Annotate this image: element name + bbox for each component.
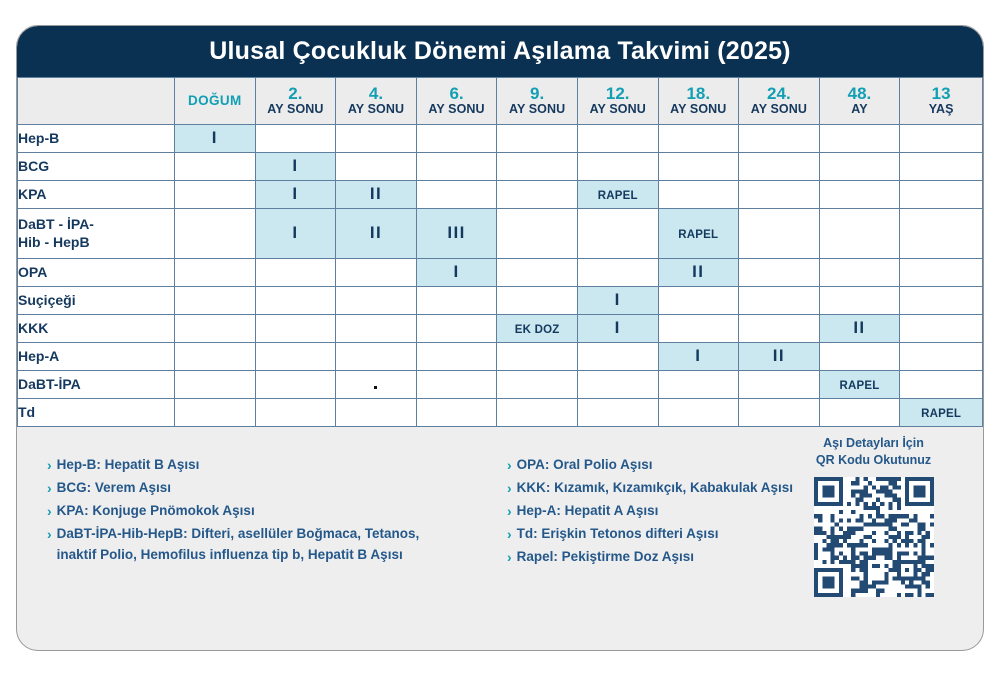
dose-cell-m18: I — [658, 343, 739, 371]
vaccine-name-cell: Hep-A — [18, 343, 175, 371]
dose-cell-m9 — [497, 209, 578, 259]
vaccine-name-cell: BCG — [18, 153, 175, 181]
dose-cell-m6: I — [416, 259, 497, 287]
page-title: Ulusal Çocukluk Dönemi Aşılama Takvimi (… — [209, 37, 790, 66]
dose-cell-m4: II — [336, 209, 417, 259]
dose-marker: I — [212, 128, 218, 147]
dose-marker: III — [447, 223, 465, 242]
dose-cell-m12 — [577, 125, 658, 153]
legend-item: ›KPA: Konjuge Pnömokok Aşısı — [47, 501, 497, 522]
dose-cell-m6 — [416, 371, 497, 399]
dose-cell-m48: II — [819, 315, 900, 343]
chevron-right-icon: › — [507, 455, 512, 476]
dose-cell-m9 — [497, 287, 578, 315]
dose-cell-m18: II — [658, 259, 739, 287]
dose-cell-m2: I — [255, 153, 336, 181]
vaccination-schedule-table: DOĞUM2.AY SONU4.AY SONU6.AY SONU9.AY SON… — [17, 77, 983, 427]
dose-cell-m4: II — [336, 181, 417, 209]
dose-cell-m24 — [739, 287, 820, 315]
legend-column-left: ›Hep-B: Hepatit B Aşısı›BCG: Verem Aşısı… — [47, 455, 497, 567]
table-row: SuçiçeğiI — [18, 287, 983, 315]
column-header-dogum: DOĞUM — [175, 78, 256, 125]
table-row: TdRAPEL — [18, 399, 983, 427]
dose-marker: I — [292, 184, 298, 203]
dose-cell-m18 — [658, 371, 739, 399]
legend-footer: ›Hep-B: Hepatit B Aşısı›BCG: Verem Aşısı… — [17, 427, 983, 627]
legend-item: ›Rapel: Pekiştirme Doz Aşısı — [507, 547, 817, 568]
dose-cell-y13 — [900, 181, 983, 209]
dose-cell-m2 — [255, 287, 336, 315]
legend-item: ›OPA: Oral Polio Aşısı — [507, 455, 817, 476]
legend-item-text: Rapel: Pekiştirme Doz Aşısı — [517, 547, 817, 568]
dose-cell-dogum — [175, 181, 256, 209]
column-header-unit: AY SONU — [659, 103, 739, 117]
dose-cell-m4 — [336, 153, 417, 181]
dose-cell-y13 — [900, 371, 983, 399]
dose-cell-m48 — [819, 153, 900, 181]
table-row: KPAIIIRAPEL — [18, 181, 983, 209]
legend-item: ›Td: Erişkin Tetonos difteri Aşısı — [507, 524, 817, 545]
column-header-unit: AY SONU — [497, 103, 577, 117]
column-header-unit: AY SONU — [417, 103, 497, 117]
dose-marker: II — [692, 262, 704, 281]
column-header-unit: AY SONU — [578, 103, 658, 117]
column-header-m18: 18.AY SONU — [658, 78, 739, 125]
dose-cell-m12 — [577, 259, 658, 287]
dose-cell-y13 — [900, 209, 983, 259]
column-header-number: 2. — [256, 85, 336, 103]
dose-cell-m18 — [658, 153, 739, 181]
column-header-number: 18. — [659, 85, 739, 103]
dose-cell-m9 — [497, 399, 578, 427]
dose-cell-m4 — [336, 259, 417, 287]
dose-cell-m48 — [819, 125, 900, 153]
stray-dot-mark — [374, 386, 377, 389]
chevron-right-icon: › — [47, 478, 52, 499]
dose-marker: EK DOZ — [515, 324, 560, 336]
dose-cell-m9: EK DOZ — [497, 315, 578, 343]
card-title-bar: Ulusal Çocukluk Dönemi Aşılama Takvimi (… — [17, 26, 983, 77]
chevron-right-icon: › — [47, 501, 52, 522]
dose-cell-m48 — [819, 287, 900, 315]
table-header-row: DOĞUM2.AY SONU4.AY SONU6.AY SONU9.AY SON… — [18, 78, 983, 125]
screenshot-stage: Ulusal Çocukluk Dönemi Aşılama Takvimi (… — [0, 0, 1000, 674]
legend-item-text: DaBT-İPA-Hib-HepB: Difteri, asellüler Bo… — [57, 524, 497, 565]
dose-marker: I — [615, 290, 621, 309]
column-header-m9: 9.AY SONU — [497, 78, 578, 125]
dose-marker: I — [292, 223, 298, 242]
dose-cell-m4 — [336, 315, 417, 343]
dose-cell-m4 — [336, 343, 417, 371]
dose-cell-dogum — [175, 315, 256, 343]
dose-cell-m24 — [739, 125, 820, 153]
dose-cell-m24 — [739, 259, 820, 287]
table-row: OPAIII — [18, 259, 983, 287]
chevron-right-icon: › — [47, 455, 52, 476]
column-header-m48: 48.AY — [819, 78, 900, 125]
legend-item-text: Hep-A: Hepatit A Aşısı — [517, 501, 817, 522]
dose-marker: RAPEL — [598, 190, 638, 202]
legend-item: ›DaBT-İPA-Hib-HepB: Difteri, asellüler B… — [47, 524, 497, 565]
table-row: DaBT - İPA- Hib - HepBIIIIIIRAPEL — [18, 209, 983, 259]
dose-cell-m18 — [658, 181, 739, 209]
dose-cell-m48 — [819, 209, 900, 259]
legend-item: ›Hep-B: Hepatit B Aşısı — [47, 455, 497, 476]
legend-item-text: KKK: Kızamık, Kızamıkçık, Kabakulak Aşıs… — [517, 478, 817, 499]
dose-marker: I — [453, 262, 459, 281]
column-header-unit: YAŞ — [900, 103, 982, 117]
legend-column-right: ›OPA: Oral Polio Aşısı›KKK: Kızamık, Kız… — [507, 455, 817, 570]
dose-cell-m48: RAPEL — [819, 371, 900, 399]
dose-cell-dogum — [175, 209, 256, 259]
dose-marker: RAPEL — [678, 229, 718, 241]
dose-cell-m6 — [416, 315, 497, 343]
dose-cell-m18: RAPEL — [658, 209, 739, 259]
qr-code-icon — [814, 477, 934, 597]
dose-cell-m12: RAPEL — [577, 181, 658, 209]
dose-cell-m6: III — [416, 209, 497, 259]
dose-cell-m9 — [497, 125, 578, 153]
dose-cell-m6 — [416, 181, 497, 209]
dose-cell-dogum — [175, 371, 256, 399]
dose-cell-m6 — [416, 343, 497, 371]
dose-cell-m9 — [497, 181, 578, 209]
dose-cell-m4 — [336, 399, 417, 427]
dose-marker: I — [615, 318, 621, 337]
dose-cell-m48 — [819, 399, 900, 427]
dose-cell-m12 — [577, 153, 658, 181]
vaccine-name-cell: Td — [18, 399, 175, 427]
chevron-right-icon: › — [507, 524, 512, 545]
table-header: DOĞUM2.AY SONU4.AY SONU6.AY SONU9.AY SON… — [18, 78, 983, 125]
dose-cell-y13 — [900, 315, 983, 343]
dose-cell-dogum — [175, 343, 256, 371]
column-header-number: 48. — [820, 85, 900, 103]
dose-cell-m2 — [255, 371, 336, 399]
dose-cell-m2 — [255, 259, 336, 287]
vaccine-name-cell: KKK — [18, 315, 175, 343]
dose-cell-m9 — [497, 153, 578, 181]
column-header-number: 13 — [900, 85, 982, 103]
column-header-unit: AY — [820, 103, 900, 117]
dose-cell-m2 — [255, 343, 336, 371]
dose-cell-m6 — [416, 125, 497, 153]
dose-cell-m6 — [416, 153, 497, 181]
dose-cell-m4 — [336, 371, 417, 399]
vaccine-name-cell: KPA — [18, 181, 175, 209]
dose-marker: II — [370, 184, 382, 203]
legend-item-text: OPA: Oral Polio Aşısı — [517, 455, 817, 476]
column-header-unit: AY SONU — [256, 103, 336, 117]
dose-cell-m6 — [416, 399, 497, 427]
dose-cell-m4 — [336, 287, 417, 315]
dose-marker: II — [773, 346, 785, 365]
column-header-m2: 2.AY SONU — [255, 78, 336, 125]
dose-cell-y13 — [900, 125, 983, 153]
dose-cell-dogum — [175, 287, 256, 315]
column-header-y13: 13YAŞ — [900, 78, 983, 125]
table-row: Hep-AIII — [18, 343, 983, 371]
dose-cell-m24 — [739, 371, 820, 399]
dose-cell-m24: II — [739, 343, 820, 371]
vaccine-name-cell: DaBT - İPA- Hib - HepB — [18, 209, 175, 259]
dose-cell-m48 — [819, 181, 900, 209]
dose-cell-m4 — [336, 125, 417, 153]
vaccine-name-cell: DaBT-İPA — [18, 371, 175, 399]
dose-marker: I — [695, 346, 701, 365]
schedule-table-wrapper: DOĞUM2.AY SONU4.AY SONU6.AY SONU9.AY SON… — [17, 77, 983, 427]
dose-cell-m18 — [658, 287, 739, 315]
chevron-right-icon: › — [507, 501, 512, 522]
dose-cell-m2 — [255, 399, 336, 427]
chevron-right-icon: › — [47, 524, 52, 545]
dose-marker: II — [853, 318, 865, 337]
column-header-number: 6. — [417, 85, 497, 103]
column-header-label: DOĞUM — [175, 94, 255, 109]
dose-cell-y13: RAPEL — [900, 399, 983, 427]
dose-cell-m24 — [739, 181, 820, 209]
column-header-number: 24. — [739, 85, 819, 103]
dose-cell-m2 — [255, 125, 336, 153]
dose-cell-y13 — [900, 259, 983, 287]
column-header-m24: 24.AY SONU — [739, 78, 820, 125]
dose-marker: RAPEL — [839, 380, 879, 392]
dose-cell-m2: I — [255, 181, 336, 209]
legend-item-text: BCG: Verem Aşısı — [57, 478, 497, 499]
column-header-m12: 12.AY SONU — [577, 78, 658, 125]
dose-cell-m12 — [577, 399, 658, 427]
dose-cell-m12 — [577, 209, 658, 259]
table-body: Hep-BIBCGIKPAIIIRAPELDaBT - İPA- Hib - H… — [18, 125, 983, 427]
dose-cell-m24 — [739, 153, 820, 181]
dose-cell-m2 — [255, 315, 336, 343]
column-header-number: 4. — [336, 85, 416, 103]
dose-cell-m24 — [739, 315, 820, 343]
dose-cell-m9 — [497, 371, 578, 399]
column-header-unit: AY SONU — [739, 103, 819, 117]
dose-cell-dogum: I — [175, 125, 256, 153]
dose-cell-m48 — [819, 259, 900, 287]
table-row: BCGI — [18, 153, 983, 181]
dose-cell-m9 — [497, 343, 578, 371]
dose-marker: I — [292, 156, 298, 175]
legend-item: ›KKK: Kızamık, Kızamıkçık, Kabakulak Aşı… — [507, 478, 817, 499]
dose-cell-m6 — [416, 287, 497, 315]
column-header-number: 9. — [497, 85, 577, 103]
qr-caption: Aşı Detayları İçin QR Kodu Okutunuz — [786, 435, 961, 469]
column-header-m6: 6.AY SONU — [416, 78, 497, 125]
dose-cell-m12 — [577, 343, 658, 371]
legend-item-text: Td: Erişkin Tetonos difteri Aşısı — [517, 524, 817, 545]
dose-cell-y13 — [900, 287, 983, 315]
dose-marker: RAPEL — [921, 408, 961, 420]
column-header-number: 12. — [578, 85, 658, 103]
dose-cell-m12 — [577, 371, 658, 399]
vaccine-name-cell: Hep-B — [18, 125, 175, 153]
chevron-right-icon: › — [507, 547, 512, 568]
dose-cell-m18 — [658, 315, 739, 343]
dose-cell-m18 — [658, 125, 739, 153]
dose-cell-dogum — [175, 153, 256, 181]
vaccine-name-cell: OPA — [18, 259, 175, 287]
legend-item: ›Hep-A: Hepatit A Aşısı — [507, 501, 817, 522]
table-row: DaBT-İPARAPEL — [18, 371, 983, 399]
column-header-blank — [18, 78, 175, 125]
dose-cell-m48 — [819, 343, 900, 371]
legend-item-text: KPA: Konjuge Pnömokok Aşısı — [57, 501, 497, 522]
dose-marker: II — [370, 223, 382, 242]
dose-cell-m18 — [658, 399, 739, 427]
table-row: Hep-BI — [18, 125, 983, 153]
column-header-unit: AY SONU — [336, 103, 416, 117]
dose-cell-dogum — [175, 259, 256, 287]
dose-cell-m12: I — [577, 287, 658, 315]
table-row: KKKEK DOZIII — [18, 315, 983, 343]
dose-cell-y13 — [900, 343, 983, 371]
legend-item: ›BCG: Verem Aşısı — [47, 478, 497, 499]
vaccination-schedule-card: Ulusal Çocukluk Dönemi Aşılama Takvimi (… — [16, 25, 984, 651]
dose-cell-dogum — [175, 399, 256, 427]
dose-cell-m24 — [739, 399, 820, 427]
dose-cell-y13 — [900, 153, 983, 181]
chevron-right-icon: › — [507, 478, 512, 499]
dose-cell-m12: I — [577, 315, 658, 343]
column-header-m4: 4.AY SONU — [336, 78, 417, 125]
legend-item-text: Hep-B: Hepatit B Aşısı — [57, 455, 497, 476]
dose-cell-m2: I — [255, 209, 336, 259]
qr-block: Aşı Detayları İçin QR Kodu Okutunuz — [786, 435, 961, 597]
dose-cell-m9 — [497, 259, 578, 287]
dose-cell-m24 — [739, 209, 820, 259]
vaccine-name-cell: Suçiçeği — [18, 287, 175, 315]
